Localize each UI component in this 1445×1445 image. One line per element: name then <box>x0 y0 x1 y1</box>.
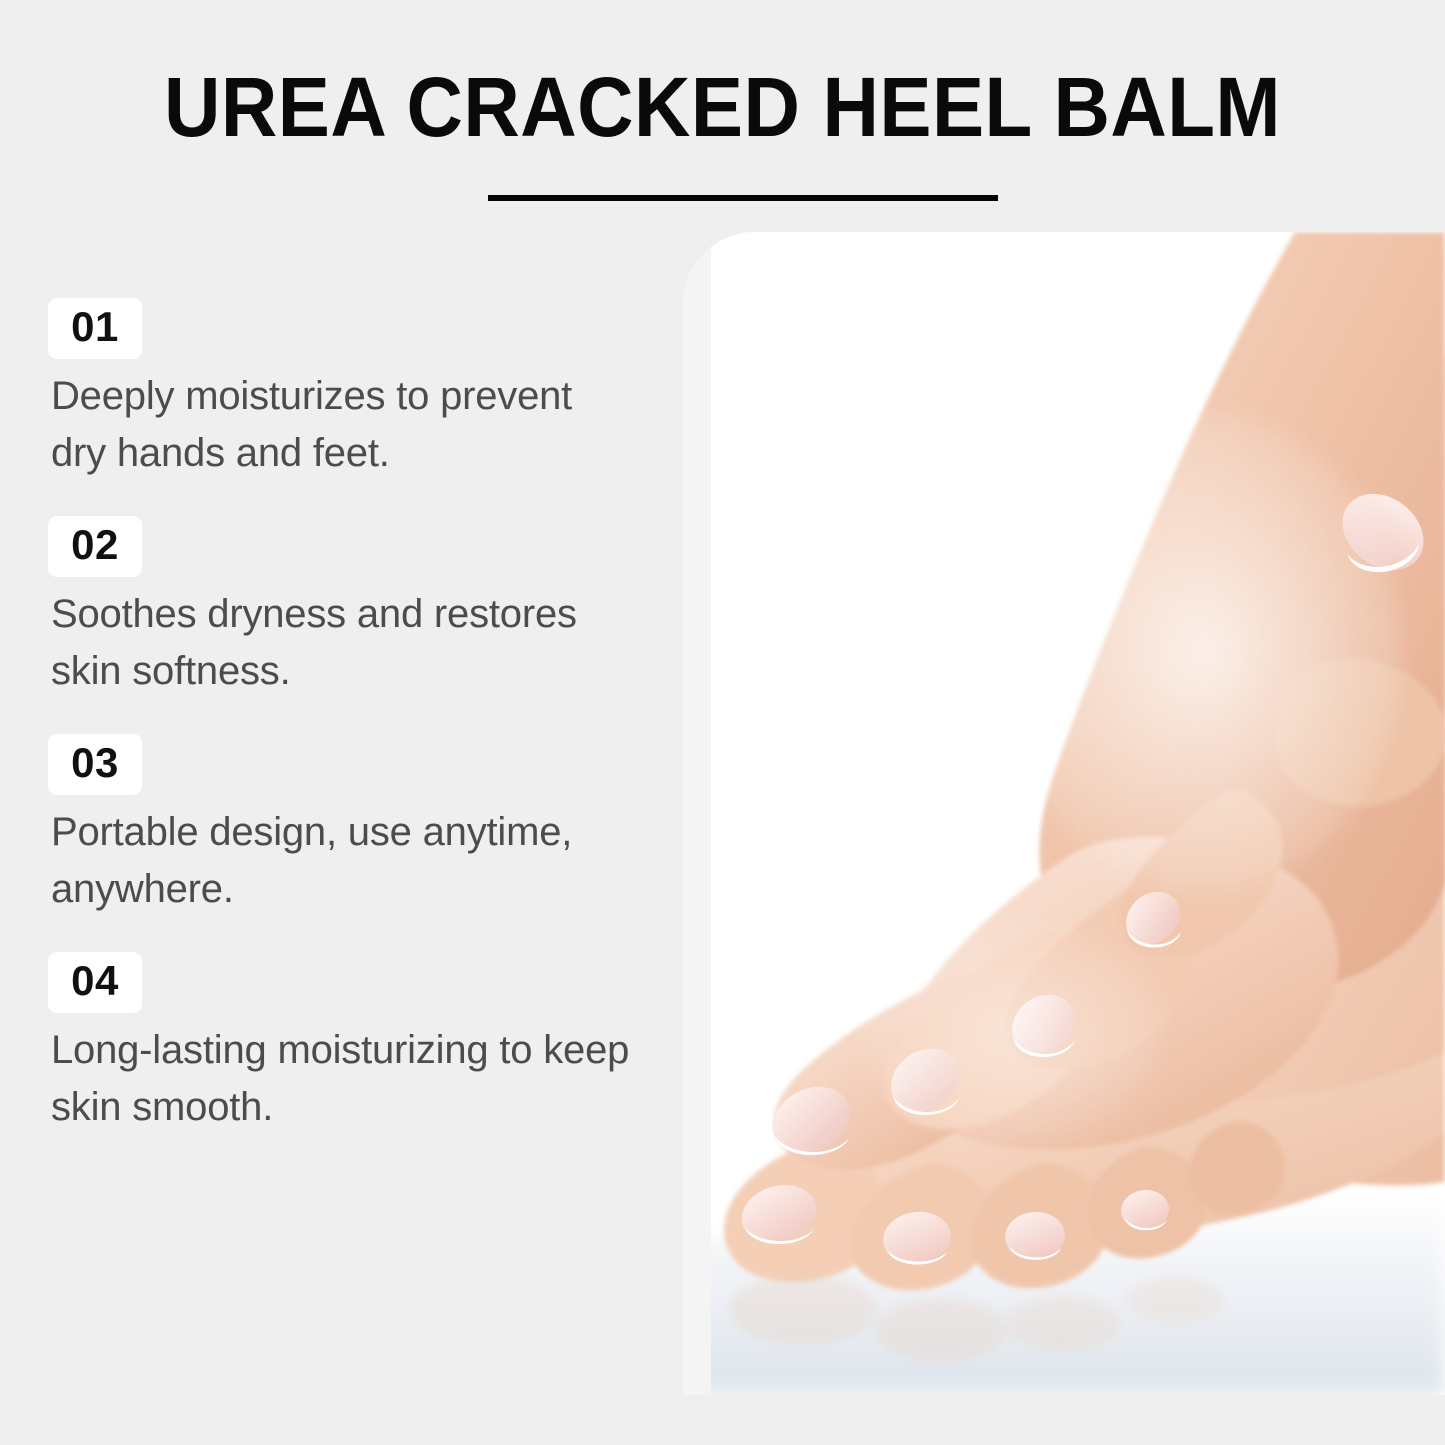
feature-item: 02 Soothes dryness and restores skin sof… <box>48 516 648 734</box>
panel-edge-strip <box>683 232 711 1395</box>
page-title: UREA CRACKED HEEL BALM <box>51 66 1395 148</box>
product-photo-panel <box>683 232 1445 1395</box>
feature-number-badge: 03 <box>48 734 142 795</box>
panel-base-fill <box>683 1395 1445 1445</box>
photo-illustration <box>683 232 1445 1395</box>
feature-description: Long-lasting moisturizing to keep skin s… <box>51 1022 631 1136</box>
feature-description: Portable design, use anytime, anywhere. <box>51 804 631 918</box>
feature-number-badge: 01 <box>48 298 142 359</box>
feature-item: 03 Portable design, use anytime, anywher… <box>48 734 648 952</box>
feature-description: Soothes dryness and restores skin softne… <box>51 586 631 700</box>
feature-item: 01 Deeply moisturizes to prevent dry han… <box>48 298 648 516</box>
hands-and-foot-photo <box>683 232 1445 1395</box>
feature-list: 01 Deeply moisturizes to prevent dry han… <box>48 298 648 1136</box>
header: UREA CRACKED HEEL BALM <box>0 0 1445 232</box>
feature-number-badge: 02 <box>48 516 142 577</box>
title-divider <box>488 195 998 201</box>
feature-description: Deeply moisturizes to prevent dry hands … <box>51 368 631 482</box>
feature-item: 04 Long-lasting moisturizing to keep ski… <box>48 952 648 1136</box>
feature-number-badge: 04 <box>48 952 142 1013</box>
